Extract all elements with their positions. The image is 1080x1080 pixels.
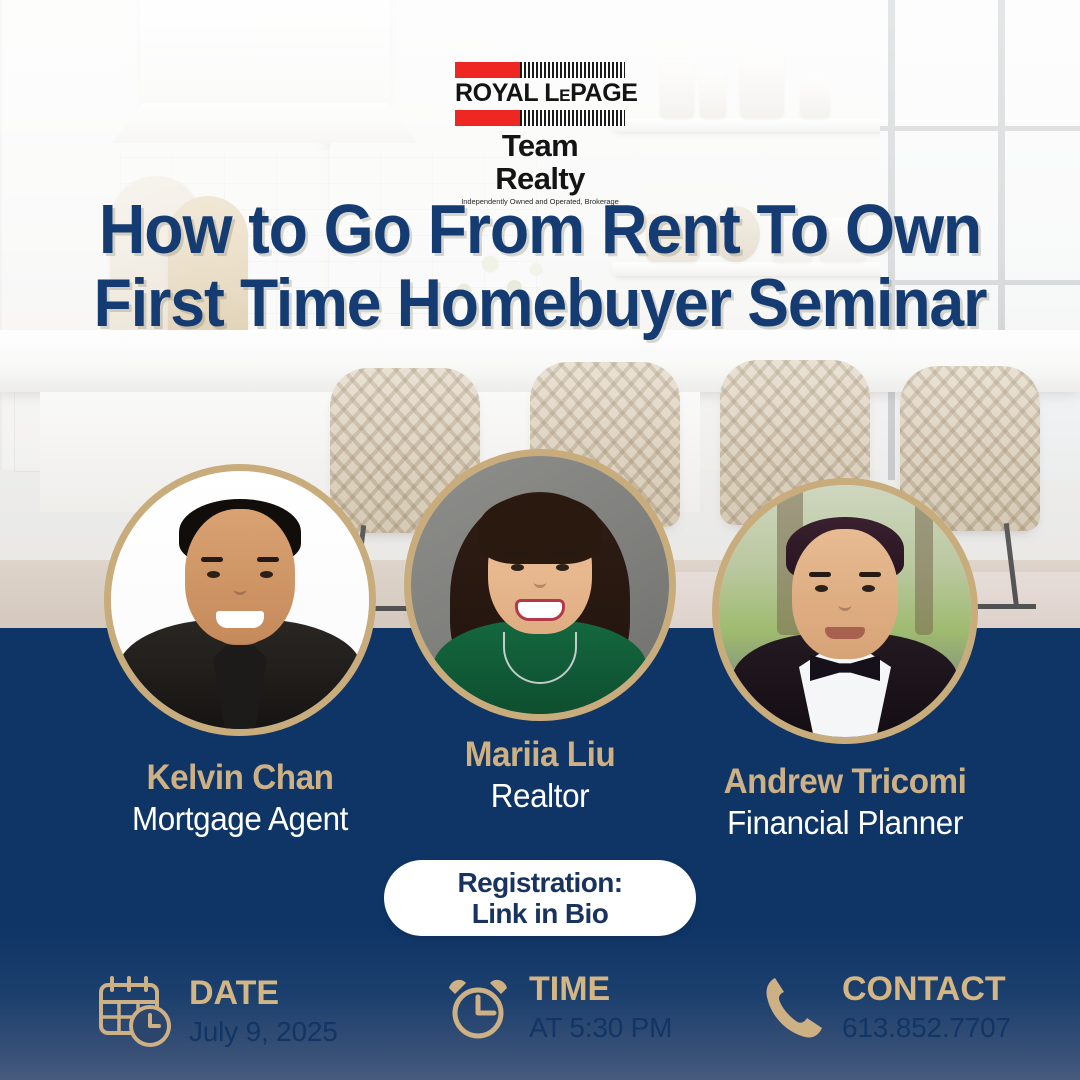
poster-title: How to Go From Rent To Own First Time Ho… xyxy=(0,196,1080,336)
avatar xyxy=(104,464,376,736)
date-label: DATE xyxy=(189,976,338,1012)
speaker-role: Realtor xyxy=(411,777,669,815)
seminar-poster: ROYAL LEPAGE Team Realty Independently O… xyxy=(0,0,1080,1080)
speaker-name: Andrew Tricomi xyxy=(719,762,972,802)
speaker-name: Mariia Liu xyxy=(411,735,669,775)
logo-royal-lepage-text: ROYAL LEPAGE xyxy=(455,81,625,106)
contact-value: 613.852.7707 xyxy=(842,1013,1011,1042)
calendar-clock-icon xyxy=(95,972,173,1050)
contact-label: CONTACT xyxy=(842,972,1011,1008)
registration-label: Registration: xyxy=(458,867,623,898)
avatar xyxy=(712,478,978,744)
title-line-2: First Time Homebuyer Seminar xyxy=(43,271,1037,336)
logo-team-realty-text: Team Realty xyxy=(455,130,625,195)
logo-bar-bottom xyxy=(455,110,625,126)
speaker-role: Financial Planner xyxy=(719,804,972,842)
event-details-row: DATE July 9, 2025 TIME AT 5:30 PM CONTAC… xyxy=(0,972,1080,1068)
logo-stripe-block xyxy=(520,62,625,78)
event-date-block: DATE July 9, 2025 xyxy=(95,972,338,1050)
logo-bar-top xyxy=(455,62,625,78)
date-value: July 9, 2025 xyxy=(189,1017,338,1046)
event-contact-block: CONTACT 613.852.7707 xyxy=(762,972,1011,1042)
avatar xyxy=(404,449,676,721)
logo-tagline: Independently Owned and Operated, Broker… xyxy=(455,197,625,206)
registration-link-text: Link in Bio xyxy=(472,898,609,929)
speaker-card-mariia-liu: Mariia Liu Realtor xyxy=(404,449,676,815)
speaker-name: Kelvin Chan xyxy=(111,758,369,798)
alarm-clock-icon xyxy=(443,972,513,1042)
logo-red-block xyxy=(455,110,520,126)
registration-button[interactable]: Registration: Link in Bio xyxy=(384,860,696,936)
logo-stripe-block xyxy=(520,110,625,126)
event-time-block: TIME AT 5:30 PM xyxy=(443,972,672,1042)
phone-icon xyxy=(762,972,826,1042)
speaker-role: Mortgage Agent xyxy=(111,800,369,838)
royal-lepage-logo: ROYAL LEPAGE Team Realty Independently O… xyxy=(455,62,625,206)
time-value: AT 5:30 PM xyxy=(529,1013,672,1042)
speaker-card-andrew-tricomi: Andrew Tricomi Financial Planner xyxy=(712,478,978,842)
time-label: TIME xyxy=(529,972,672,1008)
speaker-card-kelvin-chan: Kelvin Chan Mortgage Agent xyxy=(104,464,376,838)
logo-red-block xyxy=(455,62,520,78)
